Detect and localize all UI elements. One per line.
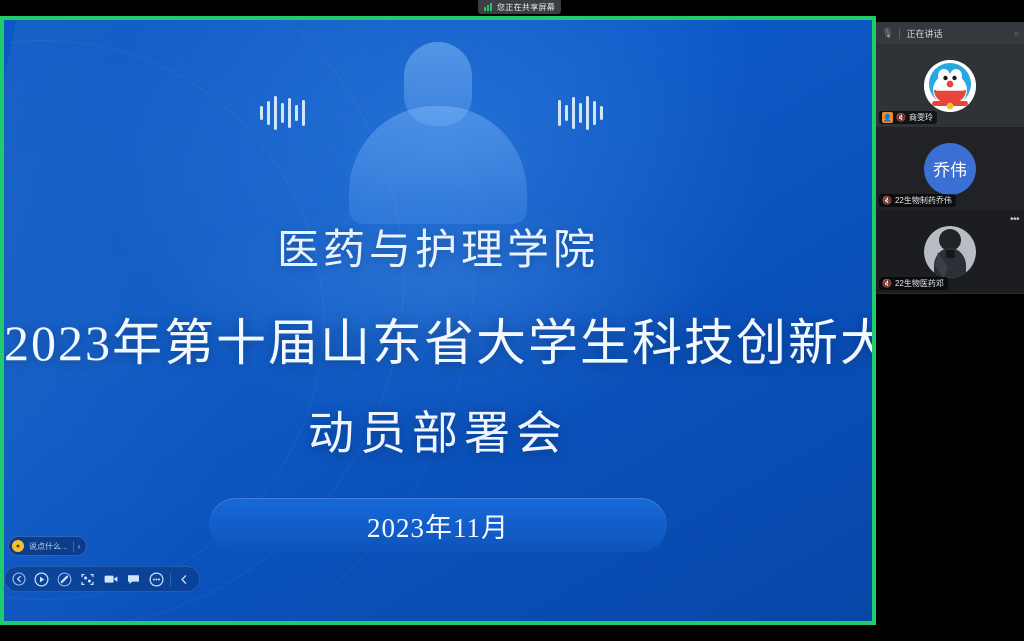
more-button[interactable] [146,569,167,590]
divider [899,28,900,39]
doraemon-avatar-icon [924,60,976,112]
signal-bars-icon [484,3,492,11]
screen-share-banner: 您正在共享屏幕 [478,0,561,14]
chevron-up-down-icon[interactable]: ‹‹ [1014,28,1018,38]
desktop-background [0,625,1024,641]
slide-date: 2023年11月 [367,506,509,545]
silhouette-body [349,106,527,224]
slide-date-pill: 2023年11月 [209,498,667,552]
mic-muted-icon: 🔇 [896,113,906,122]
select-region-button[interactable] [77,569,98,590]
microphone-icon: 🎙 [882,28,893,39]
participant-tile[interactable]: 乔伟 🔇 22生物制药乔伟 [876,127,1024,210]
mic-muted-icon: 🔇 [882,279,892,288]
participant-name: 22生物医药邓 [895,278,944,289]
slide-subtitle: 动员部署会 [4,397,872,463]
participant-name-chip: 👤 🔇 商雯玲 [879,111,937,124]
participant-tile[interactable]: 👤 🔇 商雯玲 [876,44,1024,127]
slide-toolbar [4,566,200,592]
participants-panel: 2916130 916130 🎙 正在讲话 ‹‹ [876,22,1024,294]
person-silhouette-icon [308,42,568,217]
video-camera-button[interactable] [100,569,121,590]
more-horizontal-icon[interactable]: ••• [1010,214,1019,225]
shared-slide: 医药与护理学院 2023年第十届山东省大学生科技创新大赛 动员部署会 2023年… [4,20,872,621]
slide-department: 医药与护理学院 [4,216,872,277]
participant-name: 商雯玲 [909,112,933,123]
avatar-initials: 乔伟 [933,156,967,181]
audio-waveform-icon [260,92,305,134]
mic-muted-icon: 🔇 [882,196,892,205]
avatar: 乔伟 [924,143,976,195]
audio-waveform-icon [558,92,603,134]
previous-slide-button[interactable] [8,569,29,590]
slide-chat-input[interactable]: ● 说点什么... ‹ [8,536,87,556]
photo-avatar-icon [924,226,976,278]
divider [170,573,171,586]
user-badge-icon: ● [12,540,24,552]
participants-panel-header: 🎙 正在讲话 ‹‹ [876,22,1024,44]
chat-placeholder: 说点什么... [24,541,73,552]
participant-name: 22生物制药乔伟 [895,195,952,206]
slide-title: 2023年第十届山东省大学生科技创新大赛 [4,303,872,375]
chevron-left-icon[interactable]: ‹ [74,542,85,551]
play-button[interactable] [31,569,52,590]
screen-root: 您正在共享屏幕 医药与护理学院 2023年第十届山东省大学生科技创新大赛 动员部… [0,0,1024,641]
chat-bubble-button[interactable] [123,569,144,590]
participant-tile[interactable]: ••• 🔇 22生物医药邓 [876,210,1024,293]
host-icon: 👤 [882,112,893,123]
desktop-background [876,0,1024,22]
collapse-toolbar-button[interactable] [174,569,195,590]
participant-name-chip: 🔇 22生物医药邓 [879,277,948,290]
annotate-button[interactable] [54,569,75,590]
participant-name-chip: 🔇 22生物制药乔伟 [879,194,956,207]
screen-share-label: 您正在共享屏幕 [497,2,555,13]
slide-text-block: 医药与护理学院 2023年第十届山东省大学生科技创新大赛 动员部署会 [4,216,872,463]
active-speaker-label: 正在讲话 [906,27,942,40]
